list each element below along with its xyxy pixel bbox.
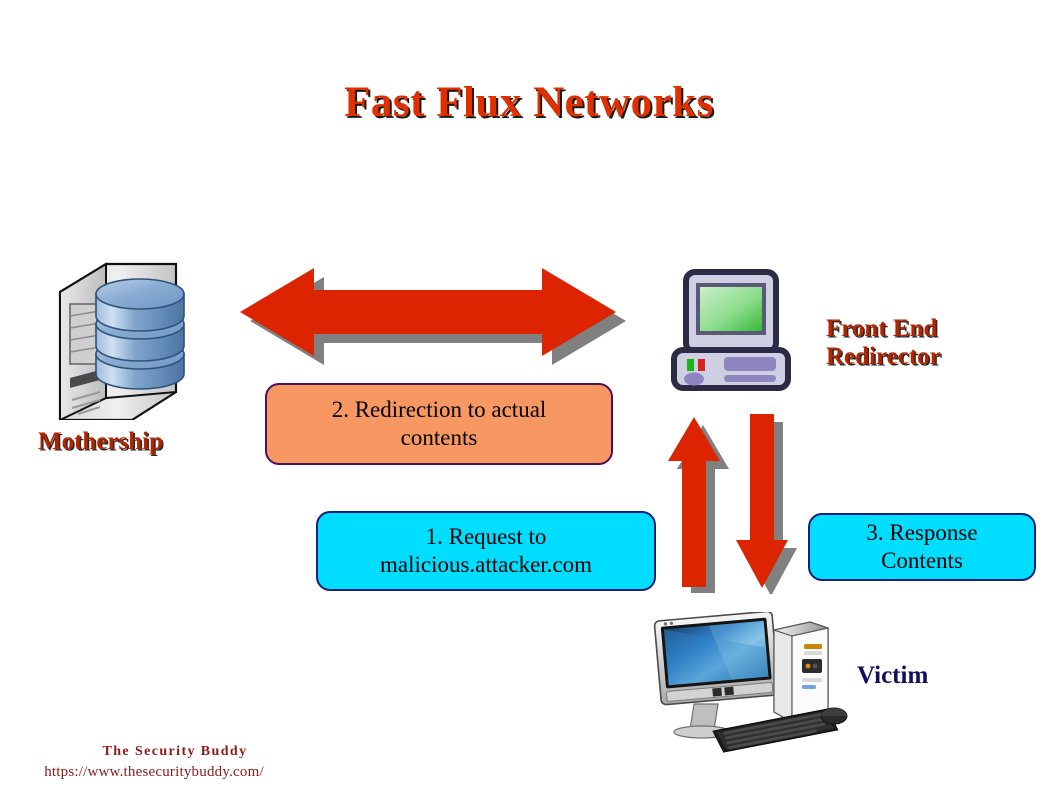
- footer-brand: The Security Buddy: [60, 744, 290, 760]
- callout-response-line1: 3. Response: [866, 519, 977, 547]
- front-end-redirector-label: Front End Redirector: [826, 315, 941, 371]
- callout-request[interactable]: 1. Request to malicious.attacker.com: [316, 511, 656, 591]
- callout-request-line2: malicious.attacker.com: [380, 551, 592, 579]
- front-end-redirector-label-line2: Redirector: [826, 343, 941, 371]
- mothership-label: Mothership: [38, 428, 163, 456]
- callout-response-line2: Contents: [866, 547, 977, 575]
- callout-redirection-line1: 2. Redirection to actual: [332, 396, 547, 424]
- front-end-redirector-label-line1: Front End: [826, 315, 941, 343]
- mothership-redirector-link-arrow: [222, 258, 634, 366]
- victim-label: Victim: [857, 662, 928, 690]
- callout-response[interactable]: 3. Response Contents: [808, 513, 1036, 581]
- callout-redirection-line2: contents: [332, 424, 547, 452]
- footer-url[interactable]: https://www.thesecuritybuddy.com/: [18, 764, 290, 781]
- desktop-computer-icon: [670, 268, 792, 392]
- page-title: Fast Flux Networks: [0, 78, 1058, 127]
- redirector-to-victim-arrow: [736, 412, 798, 594]
- server-database-icon: [48, 252, 198, 420]
- callout-redirection[interactable]: 2. Redirection to actual contents: [265, 383, 613, 465]
- pc-workstation-icon: [652, 612, 852, 760]
- callout-request-line1: 1. Request to: [380, 523, 592, 551]
- slide-canvas: Fast Flux Networks: [0, 0, 1058, 794]
- victim-to-redirector-arrow: [668, 415, 730, 593]
